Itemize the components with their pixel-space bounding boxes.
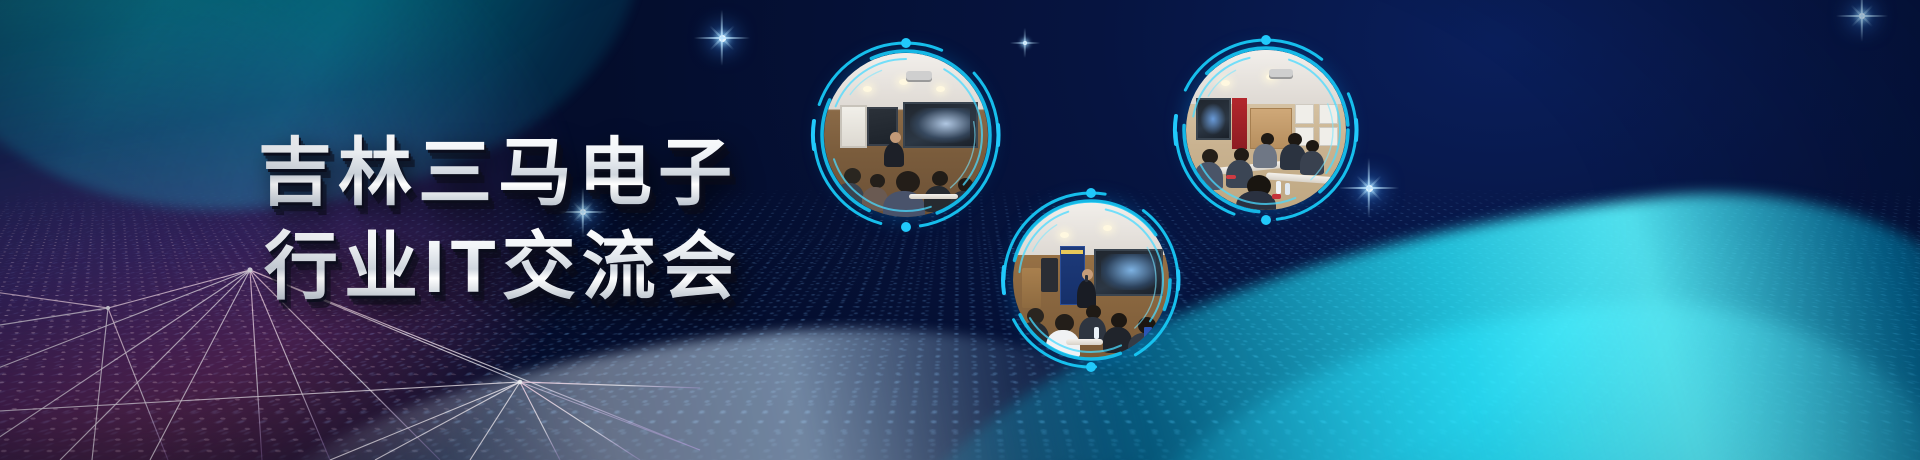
banner-headline: 吉林三马电子 行业IT交流会 (258, 126, 818, 314)
event-banner: 吉林三马电子 行业IT交流会 (0, 0, 1920, 460)
headline-line-2: 行业IT交流会 (258, 220, 818, 314)
photo-bubble-conference-presenter[interactable] (806, 35, 1006, 235)
headline-line-1: 吉林三马电子 (258, 126, 818, 220)
tech-ring-decoration (1168, 32, 1364, 228)
tech-ring-decoration (806, 35, 1006, 235)
tech-ring-decoration (996, 185, 1186, 375)
photo-bubble-meeting-attendees[interactable] (1168, 32, 1364, 228)
cyan-wave-ridge-back (1071, 279, 1920, 460)
sparkle-star (1839, 0, 1885, 39)
sparkle-star (694, 10, 750, 66)
sparkle-star (1010, 28, 1040, 58)
photo-bubble-speaker-microphone[interactable] (996, 185, 1186, 375)
